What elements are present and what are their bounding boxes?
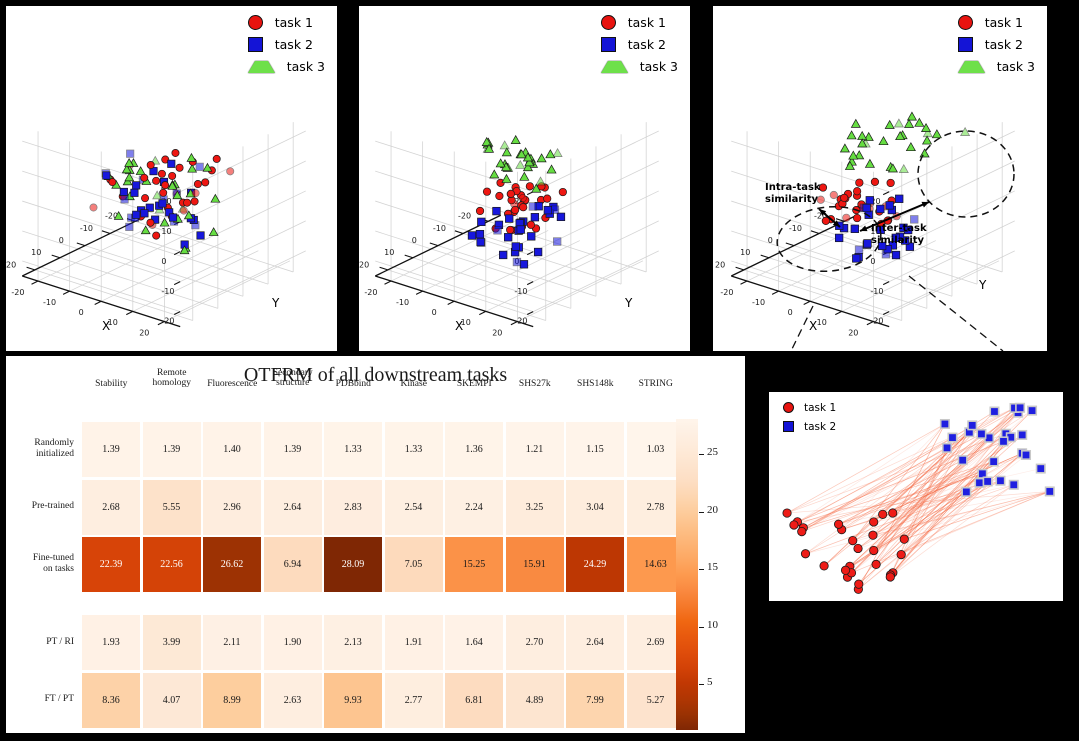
heatmap-row-header: Pre-trained [6,501,74,512]
task2-point [958,456,966,464]
legend-label-task1: task 1 [628,15,666,30]
heatmap-cell: 2.70 [506,615,564,670]
task1-point [849,536,857,544]
svg-text:-10: -10 [514,287,527,296]
heatmap-cell: 2.63 [264,673,322,728]
heatmap-cell: 22.56 [143,537,201,592]
heatmap-cell: 8.36 [82,673,140,728]
heatmap-cell: 7.05 [385,537,443,592]
task2-square-icon [783,421,794,432]
svg-text:20: 20 [6,260,16,269]
svg-text:-20: -20 [720,288,733,297]
svg-text:10: 10 [740,248,750,257]
heatmap-cell: 7.99 [566,673,624,728]
svg-text:20: 20 [848,328,858,337]
svg-text:-10: -10 [752,298,765,307]
heatmap-cell: 1.39 [264,422,322,477]
task1-point [889,509,897,517]
legend-label-task3: task 3 [997,59,1035,74]
task1-point [790,521,798,529]
heatmap-cell: 1.21 [506,422,564,477]
svg-text:0: 0 [59,236,64,245]
heatmap-cell: 2.77 [385,673,443,728]
task3-triangle-icon [248,61,275,73]
task2-square-icon [601,37,616,52]
task1-point [841,566,849,574]
svg-text:0: 0 [161,257,166,266]
heatmap-cell: 1.64 [445,615,503,670]
heatmap-row-header: FT / PT [6,694,74,705]
matching-link [858,453,1022,548]
svg-text:20: 20 [359,260,369,269]
heatmap-cell: 8.99 [203,673,261,728]
heatmap-cell: 1.39 [82,422,140,477]
heatmap-cell: 15.91 [506,537,564,592]
task2-point [999,437,1007,445]
heatmap-cell: 1.15 [566,422,624,477]
heatmap-row-header: Randomlyinitialized [6,438,74,460]
colorbar-tick-label: 25 [707,446,718,458]
legend-item-task1: task 1 [958,14,1035,31]
svg-text:-10: -10 [396,298,409,307]
heatmap-panel: OTFRM of all downstream tasks StabilityR… [6,356,745,733]
annotation-intra-task-similarity: Intra-task similarity [765,182,821,205]
heatmap-cell: 1.33 [385,422,443,477]
heatmap-col-header: Remotehomology [142,369,203,389]
svg-text:10: 10 [31,248,41,257]
heatmap-row-header: Fine-tunedon tasks [6,553,74,575]
cluster-outline [918,131,1014,217]
heatmap-cell: 9.93 [324,673,382,728]
svg-text:-10: -10 [80,224,93,233]
axis-label-x-a: X [102,319,110,333]
heatmap-cell: 3.25 [506,480,564,535]
svg-text:-10: -10 [870,287,883,296]
svg-text:-20: -20 [364,288,377,297]
task2-point [996,477,1004,485]
svg-text:0: 0 [412,236,417,245]
task1-point [855,580,863,588]
svg-text:-10: -10 [161,287,174,296]
task1-point [834,520,842,528]
task3-triangle-icon [601,61,628,73]
heatmap-cell: 1.40 [203,422,261,477]
task2-square-icon [248,37,263,52]
colorbar-tick-mark [699,454,704,455]
svg-text:-20: -20 [161,317,174,326]
legend-item-task2: task 2 [958,36,1035,53]
task2-point [1037,464,1045,472]
heatmap-cell: 1.90 [264,615,322,670]
heatmap-col-header: SKEMPI [444,380,505,390]
task1-point [854,544,862,552]
colorbar-tick-mark [699,684,704,685]
heatmap-row-header: PT / RI [6,637,74,648]
task2-point [962,488,970,496]
task1-circle-icon [958,15,973,30]
svg-text:0: 0 [788,308,793,317]
task2-point [968,421,976,429]
heatmap-cell: 6.94 [264,537,322,592]
heatmap-col-header: Fluorescence [202,380,263,390]
legend-item-task1: task 1 [248,14,325,31]
colorbar-tick-mark [699,627,704,628]
task1-point [820,562,828,570]
heatmap-cell: 5.55 [143,480,201,535]
legend-a: task 1 task 2 task 3 [248,14,325,75]
colorbar-tick-label: 15 [707,561,718,573]
svg-text:10: 10 [384,248,394,257]
zoom-leader-line [909,276,1003,351]
matching-link [851,462,993,573]
heatmap-cell: 1.36 [445,422,503,477]
heatmap-cell: 2.64 [566,615,624,670]
colorbar-tick-label: 10 [707,619,718,631]
heatmap-cell: 4.89 [506,673,564,728]
axis-label-y-a: Y [272,296,279,310]
task1-circle-icon [601,15,616,30]
legend-label-task2: task 2 [985,37,1023,52]
task2-point [1016,404,1024,412]
task1-point [897,550,905,558]
svg-text:-20: -20 [11,288,24,297]
heatmap-col-header: Secondarystructure [263,369,324,389]
heatmap-cell: 6.81 [445,673,503,728]
task1-point [869,531,877,539]
heatmap-cell: 3.99 [143,615,201,670]
task1-point [783,509,791,517]
heatmap-cell: 2.54 [385,480,443,535]
heatmap-cell: 2.83 [324,480,382,535]
svg-text:-20: -20 [870,317,883,326]
svg-text:0: 0 [870,257,875,266]
heatmap-cell: 2.13 [324,615,382,670]
svg-text:0: 0 [768,236,773,245]
svg-text:-10: -10 [43,298,56,307]
axis-label-y-b: Y [625,296,632,310]
task2-point [1046,487,1054,495]
heatmap-cell: 2.64 [264,480,322,535]
legend-label-task2: task 2 [275,37,313,52]
heatmap-cell: 2.96 [203,480,261,535]
legend-label-task1: task 1 [804,402,836,414]
legend-label-task2: task 2 [628,37,666,52]
matching-link [858,455,1026,589]
axis-label-x-c: X [809,319,817,333]
task1-point [801,550,809,558]
heatmap-cell: 24.29 [566,537,624,592]
task2-point [943,444,951,452]
heatmap-cell: 4.07 [143,673,201,728]
colorbar-tick-label: 5 [707,676,713,688]
svg-text:10: 10 [817,318,827,327]
colorbar-tick-label: 20 [707,504,718,516]
heatmap-col-header: STRING [626,380,687,390]
task2-point [1018,431,1026,439]
task3-triangle-icon [958,61,985,73]
colorbar-tick-mark [699,512,704,513]
task1-point [872,560,880,568]
heatmap-col-header: Stability [81,380,142,390]
legend-item-task1: task 1 [783,400,836,415]
matching-panel: task 1 task 2 [769,392,1063,601]
svg-text:-10: -10 [789,224,802,233]
svg-text:0: 0 [432,308,437,317]
heatmap-col-header: Kinase [384,380,445,390]
svg-text:0: 0 [79,308,84,317]
task2-point [941,420,949,428]
heatmap-cell: 28.09 [324,537,382,592]
legend-label-task1: task 1 [985,15,1023,30]
heatmap-cell: 3.04 [566,480,624,535]
heatmap-col-header: SHS27k [505,380,566,390]
scatter3d-panel-pre-trained: -20-20-20-10-10-10000101010202020 task 1… [359,6,690,351]
legend-c: task 1 task 2 task 3 [958,14,1035,75]
legend-item-task3: task 3 [958,58,1035,75]
svg-text:10: 10 [161,227,171,236]
scatter3d-panel-fine-tuned: -20-20-20-10-10-10000101010202020 task 1… [713,6,1047,351]
legend-item-task1: task 1 [601,14,678,31]
task2-square-icon [958,37,973,52]
matching-link [848,434,1006,577]
legend-item-task2: task 2 [783,419,836,434]
task1-point [886,573,894,581]
task2-point [983,477,991,485]
task2-point [1022,451,1030,459]
heatmap-cell: 1.93 [82,615,140,670]
task2-point [1028,406,1036,414]
legend-matching: task 1 task 2 [783,400,836,434]
task1-circle-icon [783,402,794,413]
scatter3d-panel-randomly-initialized: -20-20-20-10-10-10000101010202020 task 1… [6,6,337,351]
task2-point [948,433,956,441]
task1-point [878,510,886,518]
legend-b: task 1 task 2 task 3 [601,14,678,75]
task2-point [990,407,998,415]
colorbar-tick-mark [699,569,704,570]
task1-circle-icon [248,15,263,30]
heatmap-cell: 26.62 [203,537,261,592]
heatmap-colorbar [676,419,698,730]
legend-item-task3: task 3 [248,58,325,75]
task1-point [870,546,878,554]
svg-text:-20: -20 [514,317,527,326]
heatmap-cell: 2.11 [203,615,261,670]
heatmap-cell: 2.24 [445,480,503,535]
task2-point [989,457,997,465]
task1-point [798,527,806,535]
svg-text:20: 20 [139,328,149,337]
task1-point [870,518,878,526]
annotation-inter-task-similarity: Inter-task similarity [871,223,927,246]
heatmap-cell: 1.33 [324,422,382,477]
legend-label-task2: task 2 [804,421,836,433]
heatmap-cell: 1.91 [385,615,443,670]
svg-text:-10: -10 [433,224,446,233]
axis-label-y-c: Y [979,278,986,292]
legend-label-task1: task 1 [275,15,313,30]
legend-label-task3: task 3 [287,59,325,74]
heatmap-cell: 1.39 [143,422,201,477]
svg-text:-20: -20 [458,212,471,221]
legend-item-task2: task 2 [601,36,678,53]
heatmap-cell: 2.68 [82,480,140,535]
heatmap-cell: 22.39 [82,537,140,592]
task2-point [1010,481,1018,489]
svg-text:20: 20 [715,260,725,269]
legend-label-task3: task 3 [640,59,678,74]
task2-point [977,430,985,438]
axis-label-x-b: X [455,319,463,333]
task2-point [975,479,983,487]
svg-text:20: 20 [492,328,502,337]
heatmap-col-header: SHS148k [565,380,626,390]
task1-point [900,535,908,543]
heatmap-grid: StabilityRemotehomologyFluorescenceSecon… [6,356,745,733]
heatmap-cell: 15.25 [445,537,503,592]
heatmap-col-header: PDBbind [323,380,384,390]
legend-item-task3: task 3 [601,58,678,75]
legend-item-task2: task 2 [248,36,325,53]
